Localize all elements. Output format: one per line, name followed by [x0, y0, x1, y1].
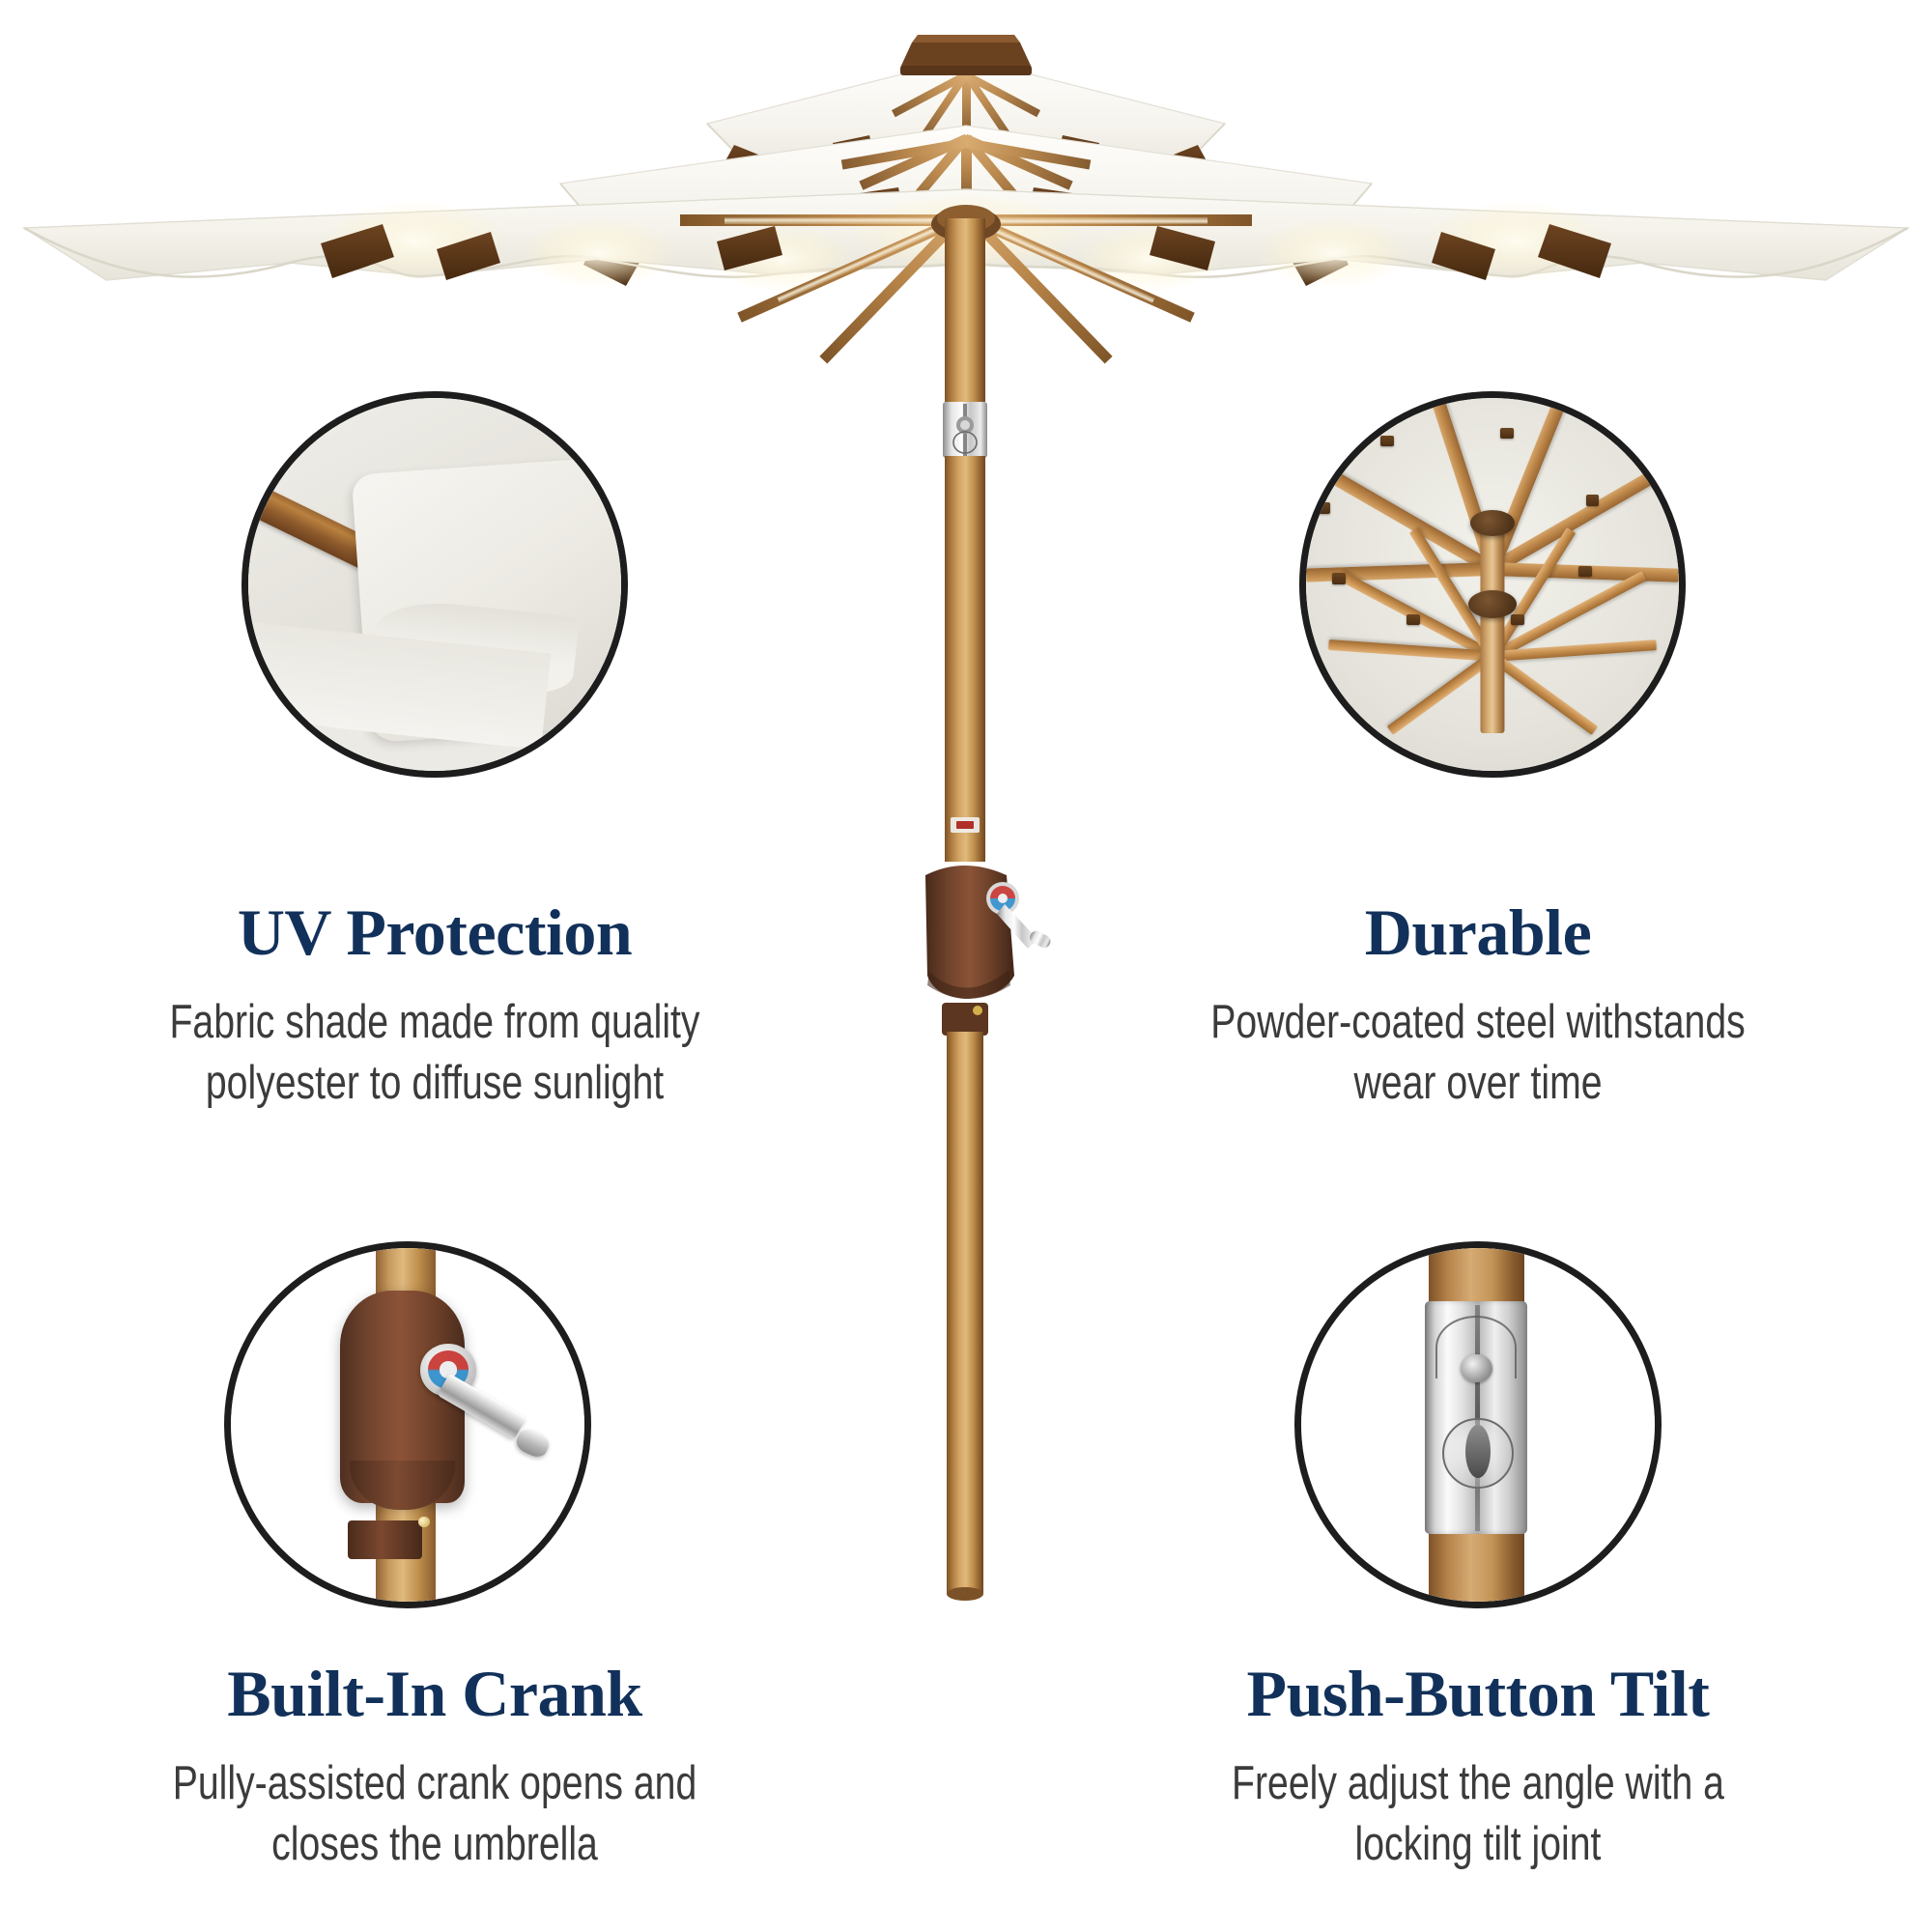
durable-rib-tip [1332, 573, 1346, 584]
feature-circle-built-in-crank [224, 1241, 591, 1608]
durable-rib-tip [1578, 566, 1592, 578]
umbrella-pole-lower [947, 1032, 983, 1601]
feature-text-durable: Durable Powder-coated steel withstands w… [1072, 898, 1884, 1114]
feature-desc-push-button-tilt-line2: locking tilt joint [1153, 1814, 1803, 1875]
tilt-joint [943, 402, 987, 458]
feature-title-uv-protection: UV Protection [29, 898, 840, 967]
durable-rib-tip [1406, 614, 1420, 626]
feature-title-push-button-tilt: Push-Button Tilt [1072, 1660, 1884, 1728]
umbrella-pole-upper [943, 218, 987, 862]
durable-center-pole [1480, 518, 1504, 734]
feature-text-uv-protection: UV Protection Fabric shade made from qua… [29, 898, 840, 1114]
tilt-button-inner [1465, 1425, 1491, 1478]
feature-desc-built-in-crank-line1: Pully-assisted crank opens and [110, 1753, 759, 1814]
feature-circle-push-button-tilt [1294, 1241, 1662, 1608]
feature-circle-durable [1299, 391, 1686, 778]
feature-title-built-in-crank: Built-In Crank [29, 1660, 840, 1728]
durable-rib-tip [1500, 428, 1514, 440]
tilt-pole-lower [1429, 1523, 1524, 1602]
feature-desc-durable-line2: wear over time [1153, 1053, 1803, 1114]
durable-lower-hub [1468, 590, 1517, 618]
durable-upper-hub [1470, 510, 1515, 536]
feature-desc-uv-protection-line2: polyester to diffuse sunlight [110, 1053, 759, 1114]
feature-desc-built-in-crank-line2: closes the umbrella [110, 1814, 759, 1875]
infographic-stage: UV Protection Fabric shade made from qua… [0, 0, 1932, 1932]
feature-desc-push-button-tilt-line1: Freely adjust the angle with a [1153, 1753, 1803, 1814]
umbrella-finial [900, 35, 1032, 75]
feature-text-push-button-tilt: Push-Button Tilt Freely adjust the angle… [1072, 1660, 1884, 1875]
durable-rib-tip [1380, 436, 1394, 447]
feature-desc-uv-protection-line1: Fabric shade made from quality [110, 992, 759, 1053]
durable-rib-tip [1586, 495, 1600, 506]
feature-circle-uv-protection [241, 391, 628, 778]
feature-desc-durable-line1: Powder-coated steel withstands [1153, 992, 1803, 1053]
feature-title-durable: Durable [1072, 898, 1884, 967]
durable-rib-tip [1511, 614, 1524, 626]
feature-text-built-in-crank: Built-In Crank Pully-assisted crank open… [29, 1660, 840, 1875]
crank-mechanism [925, 866, 1053, 1036]
durable-rib-tip [1318, 502, 1331, 514]
tilt-hinge-pin [1461, 1354, 1492, 1382]
crank-collar [348, 1520, 422, 1559]
